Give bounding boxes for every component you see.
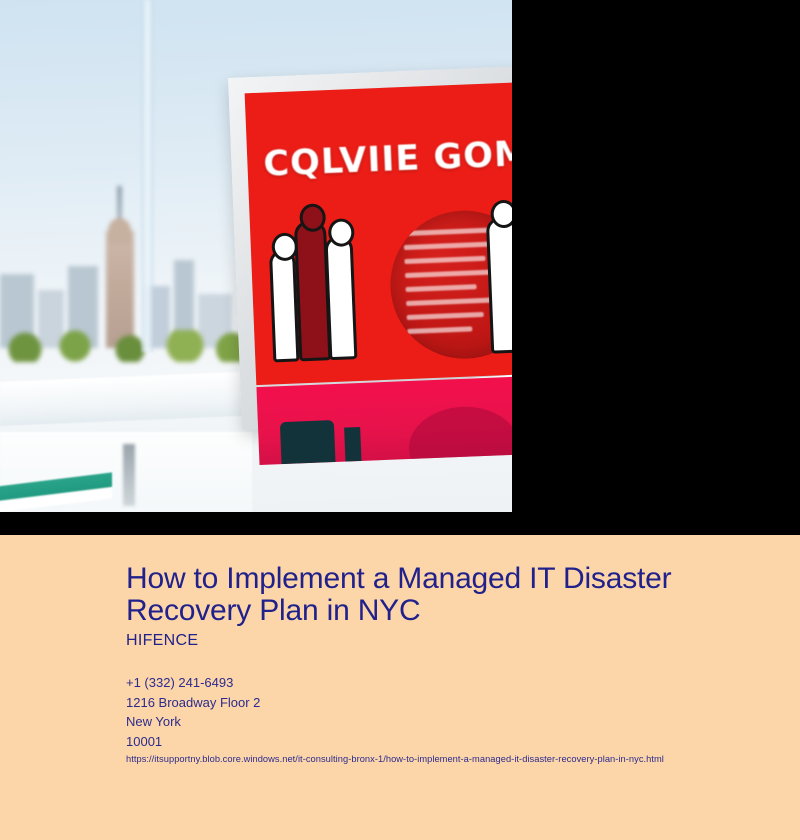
poster-figure-inner [324, 235, 357, 360]
content-panel: How to Implement a Managed IT Disaster R… [0, 535, 800, 840]
contact-block: +1 (332) 241-6493 1216 Broadway Floor 2 … [126, 673, 260, 751]
source-url[interactable]: https://itsupportny.blob.core.windows.ne… [126, 754, 664, 764]
reflection-shape-1 [280, 420, 336, 464]
window-mullion [141, 0, 154, 352]
contact-city: New York [126, 712, 260, 732]
poster-reflection-panel [256, 376, 512, 465]
reflection-shape-2 [344, 427, 361, 462]
page-root: CQLVIIE GOMMTY [0, 0, 800, 840]
city-skyline [0, 198, 260, 348]
poster-headline: CQLVIIE GOMMTY [263, 130, 512, 184]
rooftop-greenery [0, 330, 250, 362]
page-title: How to Implement a Managed IT Disaster R… [126, 563, 746, 627]
contact-phone[interactable]: +1 (332) 241-6493 [126, 673, 260, 693]
poster-figure-right [486, 217, 512, 354]
contact-zip: 10001 [126, 732, 260, 752]
poster-display: CQLVIIE GOMMTY [228, 66, 512, 430]
brand-name: HIFENCE [126, 632, 198, 650]
contact-street: 1216 Broadway Floor 2 [126, 693, 260, 713]
desk-stem [123, 444, 135, 506]
hero-image: CQLVIIE GOMMTY [0, 0, 512, 512]
poster-screen: CQLVIIE GOMMTY [245, 82, 512, 385]
